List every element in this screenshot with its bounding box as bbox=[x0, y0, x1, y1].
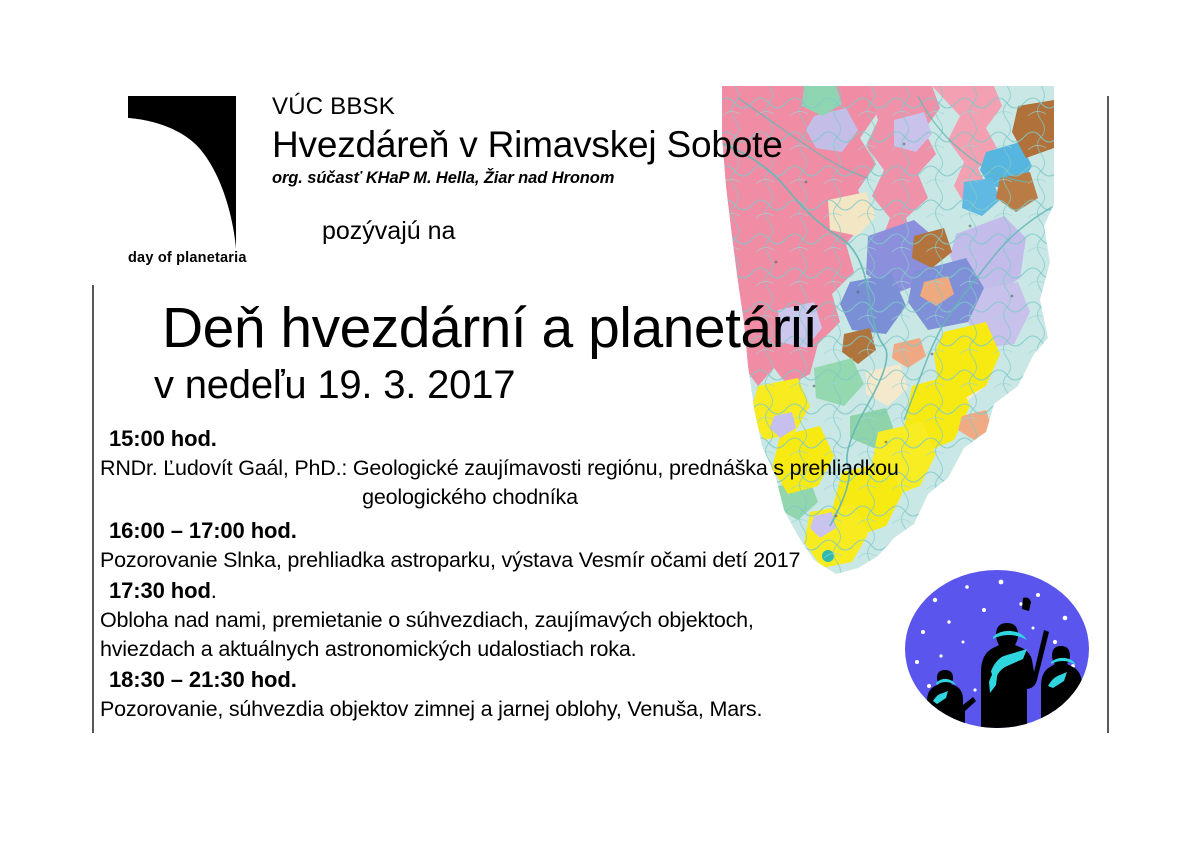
region-label: VÚC BBSK bbox=[272, 92, 783, 122]
event-date: v nedeľu 19. 3. 2017 bbox=[100, 360, 818, 410]
observatory-name: Hvezdáreň v Rimavskej Sobote bbox=[272, 122, 783, 167]
programme-time-tail: . bbox=[211, 578, 217, 603]
programme-description: RNDr. Ľudovít Gaál, PhD.: Geologické zau… bbox=[100, 454, 1100, 483]
programme-description-cont: geologického chodníka bbox=[100, 483, 1100, 512]
programme-time-main: 17:30 hod bbox=[109, 578, 211, 603]
programme-item: 15:00 hod. RNDr. Ľudovít Gaál, PhD.: Geo… bbox=[100, 424, 1100, 512]
programme-time: 16:00 – 17:00 hod. bbox=[100, 516, 1100, 546]
stargazers-illustration bbox=[905, 570, 1090, 732]
programme-time-main: 18:30 – 21:30 hod. bbox=[109, 667, 297, 692]
organisation-header: VÚC BBSK Hvezdáreň v Rimavskej Sobote or… bbox=[272, 92, 783, 247]
event-title-block: Deň hvezdární a planetárií v nedeľu 19. … bbox=[100, 296, 818, 410]
programme-time: 15:00 hod. bbox=[100, 424, 1100, 454]
left-vertical-rule bbox=[92, 285, 94, 733]
organisation-affiliation: org. súčasť KHaP M. Hella, Žiar nad Hron… bbox=[272, 167, 783, 189]
planetarium-dome-icon bbox=[128, 96, 236, 248]
programme-time-main: 16:00 – 17:00 hod. bbox=[109, 518, 297, 543]
right-vertical-rule bbox=[1107, 96, 1109, 733]
logo-caption: day of planetaria bbox=[128, 250, 298, 266]
invitation-text: pozývajú na bbox=[322, 215, 783, 247]
programme-item: 16:00 – 17:00 hod. Pozorovanie Slnka, pr… bbox=[100, 516, 1100, 575]
programme-time-main: 15:00 hod. bbox=[109, 426, 217, 451]
poster-canvas: day of planetaria VÚC BBSK Hvezdáreň v R… bbox=[0, 0, 1200, 848]
event-title: Deň hvezdární a planetárií bbox=[100, 296, 818, 360]
